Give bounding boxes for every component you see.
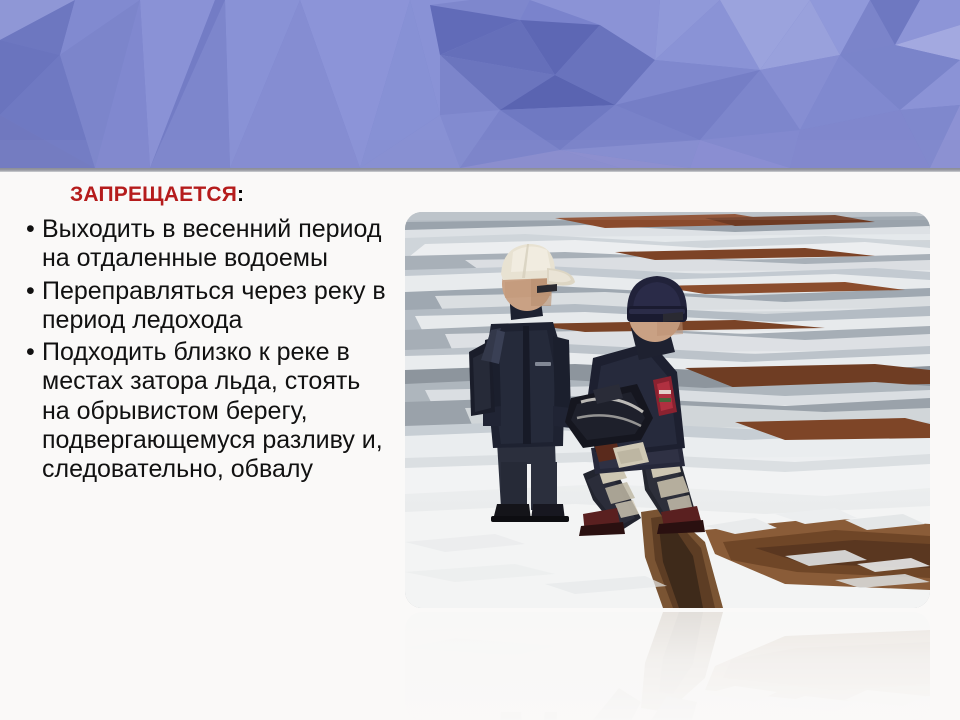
bullet-icon: • bbox=[26, 277, 35, 306]
list-item-text: Переправляться через реку в период ледох… bbox=[42, 277, 386, 334]
decorative-polygon-banner bbox=[0, 0, 960, 168]
bullet-icon: • bbox=[26, 338, 35, 367]
photo-two-boys-on-drifting-ice bbox=[405, 212, 930, 608]
list-item-text: Подходить близко к реке в местах затора … bbox=[42, 338, 383, 483]
list-item-text: Выходить в весенний период на отдаленные… bbox=[42, 215, 381, 272]
presentation-slide: ЗАПРЕЩАЕТСЯ: •Выходить в весенний период… bbox=[0, 0, 960, 720]
list-item: •Переправляться через реку в период ледо… bbox=[0, 277, 392, 336]
bullet-icon: • bbox=[26, 215, 35, 244]
photo-reflection bbox=[405, 612, 930, 720]
prohibition-list: •Выходить в весенний период на отдаленны… bbox=[0, 213, 392, 484]
reflection-fade-overlay bbox=[405, 612, 930, 720]
page-title: ЗАПРЕЩАЕТСЯ: bbox=[0, 176, 392, 213]
photo-graphic bbox=[405, 212, 930, 608]
text-content-column: ЗАПРЕЩАЕТСЯ: •Выходить в весенний период… bbox=[0, 176, 392, 720]
page-title-word: ЗАПРЕЩАЕТСЯ bbox=[70, 183, 237, 206]
header-divider bbox=[0, 168, 960, 172]
list-item: •Выходить в весенний период на отдаленны… bbox=[0, 215, 392, 274]
page-title-colon: : bbox=[237, 183, 244, 206]
list-item: •Подходить близко к реке в местах затора… bbox=[0, 338, 392, 484]
polygon-pattern-graphic bbox=[0, 0, 960, 168]
